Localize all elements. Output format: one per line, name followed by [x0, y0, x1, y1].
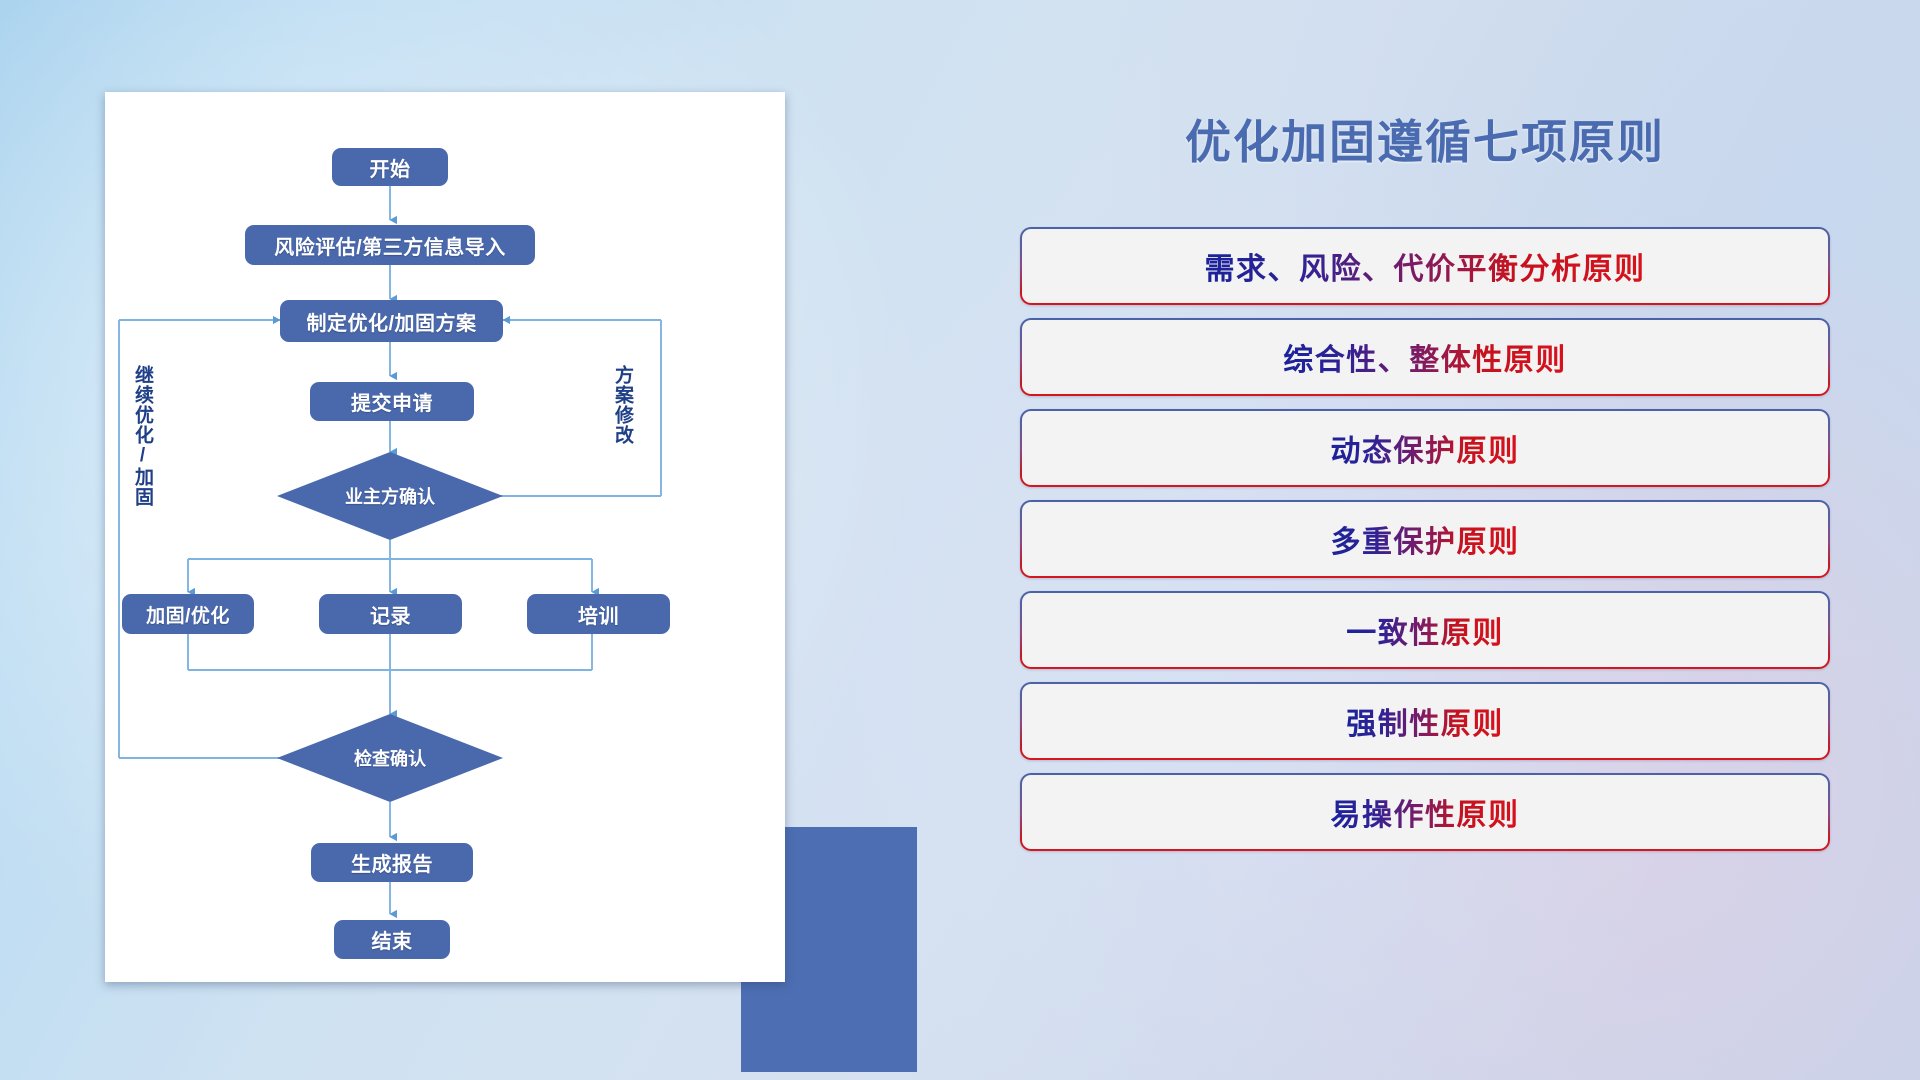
- flow-node-generate-report[interactable]: 生成报告: [311, 843, 473, 882]
- flow-node-record[interactable]: 记录: [319, 594, 462, 634]
- flow-label-continue-optimize: 继续优化/加固: [133, 365, 152, 507]
- principle-card-label: 综合性、整体性原则: [1283, 335, 1567, 379]
- principle-card[interactable]: 综合性、整体性原则: [1020, 318, 1830, 396]
- flow-node-end-label: 结束: [372, 925, 413, 954]
- flow-node-end[interactable]: 结束: [334, 920, 450, 959]
- principle-card-label: 强制性原则: [1346, 699, 1504, 743]
- flow-node-inspection-confirm[interactable]: 检查确认: [277, 714, 503, 802]
- flow-node-record-label: 记录: [370, 600, 411, 629]
- principle-card-inner: 需求、风险、代价平衡分析原则: [1022, 229, 1828, 303]
- principle-card-inner: 综合性、整体性原则: [1022, 320, 1828, 394]
- principle-card-inner: 动态保护原则: [1022, 411, 1828, 485]
- principles-panel: 优化加固遵循七项原则 需求、风险、代价平衡分析原则 综合性、整体性原则 动态保护…: [1020, 92, 1830, 1012]
- principle-card[interactable]: 强制性原则: [1020, 682, 1830, 760]
- principle-card[interactable]: 一致性原则: [1020, 591, 1830, 669]
- flow-node-generate-report-label: 生成报告: [351, 848, 433, 877]
- principle-card[interactable]: 需求、风险、代价平衡分析原则: [1020, 227, 1830, 305]
- principle-card-label: 易操作性原则: [1331, 790, 1520, 834]
- flow-node-inspection-confirm-label: 检查确认: [354, 745, 426, 771]
- flow-node-training-label: 培训: [578, 600, 619, 629]
- flow-label-plan-revision: 方案修改: [613, 365, 632, 445]
- principle-card-inner: 多重保护原则: [1022, 502, 1828, 576]
- flow-node-risk-assessment[interactable]: 风险评估/第三方信息导入: [245, 225, 535, 265]
- principle-card-label: 多重保护原则: [1331, 517, 1520, 561]
- flowchart-panel: 开始 风险评估/第三方信息导入 制定优化/加固方案 提交申请 业主方确认 加固/…: [105, 92, 785, 982]
- principle-card[interactable]: 多重保护原则: [1020, 500, 1830, 578]
- principle-card[interactable]: 动态保护原则: [1020, 409, 1830, 487]
- flow-node-submit-application[interactable]: 提交申请: [310, 382, 474, 421]
- principle-card-list: 需求、风险、代价平衡分析原则 综合性、整体性原则 动态保护原则 多重保护原则: [1020, 227, 1830, 864]
- principle-card-inner: 易操作性原则: [1022, 775, 1828, 849]
- flowchart-container: 开始 风险评估/第三方信息导入 制定优化/加固方案 提交申请 业主方确认 加固/…: [105, 92, 805, 982]
- flow-node-submit-application-label: 提交申请: [351, 387, 433, 416]
- principle-card-inner: 一致性原则: [1022, 593, 1828, 667]
- flow-node-risk-assessment-label: 风险评估/第三方信息导入: [274, 231, 506, 260]
- flow-node-reinforce-optimize-label: 加固/优化: [146, 601, 230, 628]
- flow-node-start-label: 开始: [370, 153, 411, 182]
- flow-node-training[interactable]: 培训: [527, 594, 670, 634]
- slide-canvas: 开始 风险评估/第三方信息导入 制定优化/加固方案 提交申请 业主方确认 加固/…: [0, 0, 1920, 1080]
- flow-node-make-plan-label: 制定优化/加固方案: [306, 307, 476, 336]
- principle-card[interactable]: 易操作性原则: [1020, 773, 1830, 851]
- principle-card-label: 需求、风险、代价平衡分析原则: [1205, 244, 1646, 288]
- flow-node-owner-confirm-label: 业主方确认: [345, 483, 435, 509]
- principle-card-label: 动态保护原则: [1331, 426, 1520, 470]
- flow-node-start[interactable]: 开始: [332, 148, 448, 186]
- flow-node-owner-confirm[interactable]: 业主方确认: [277, 452, 503, 540]
- page-title: 优化加固遵循七项原则: [1020, 106, 1830, 172]
- flowchart-canvas: 开始 风险评估/第三方信息导入 制定优化/加固方案 提交申请 业主方确认 加固/…: [105, 92, 785, 982]
- flow-node-reinforce-optimize[interactable]: 加固/优化: [122, 594, 254, 634]
- flow-node-make-plan[interactable]: 制定优化/加固方案: [280, 300, 503, 342]
- principle-card-inner: 强制性原则: [1022, 684, 1828, 758]
- principle-card-label: 一致性原则: [1346, 608, 1504, 652]
